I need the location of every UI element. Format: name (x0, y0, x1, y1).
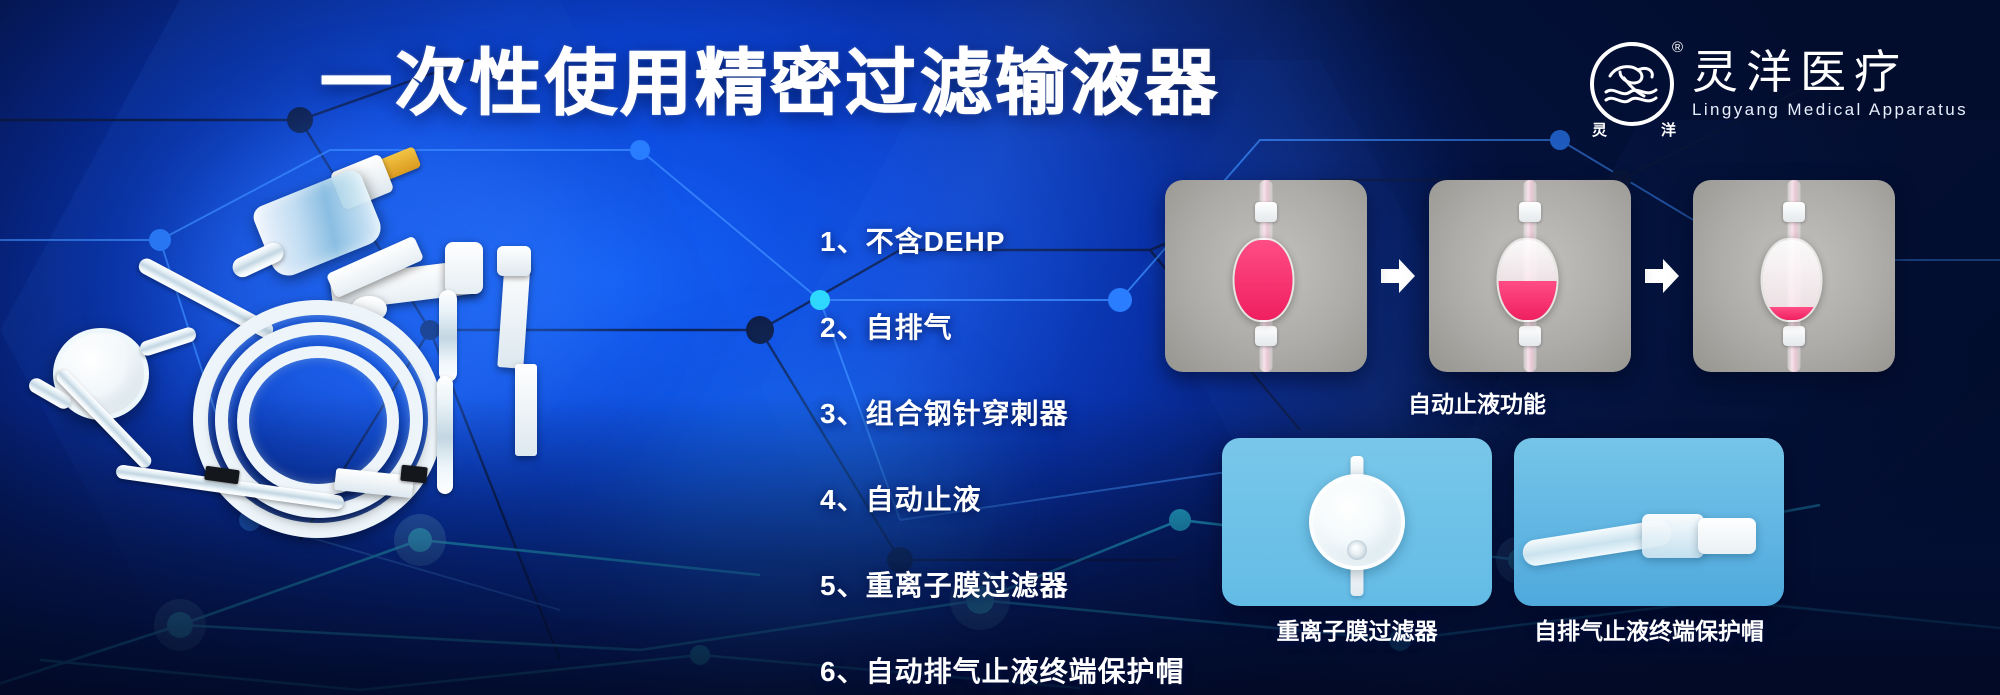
y-site-port (445, 242, 483, 294)
bottom-caption-2: 自排气止液终端保护帽 (1514, 612, 1784, 646)
filter-outlet-tube (138, 325, 198, 357)
terminal-protective-cap (515, 364, 537, 456)
valve-air-space (1763, 240, 1821, 307)
auto-stop-sequence (1165, 180, 1895, 372)
brand-text-block: 灵洋医疗 Lingyang Medical Apparatus (1692, 48, 1968, 120)
iv-connector-top (1519, 202, 1541, 222)
valve-fluid-level (1235, 240, 1293, 320)
bottom-caption-1: 重离子膜过滤器 (1222, 612, 1492, 646)
product-photo (35, 150, 795, 550)
tube-vertical-right (437, 376, 453, 494)
brand-name-en: Lingyang Medical Apparatus (1692, 100, 1968, 120)
iv-connector-top (1783, 202, 1805, 222)
needle-band (400, 465, 428, 484)
heavy-ion-membrane-filter (1309, 474, 1405, 570)
filter-photo-panel (1222, 438, 1492, 606)
sequence-frame-1 (1165, 180, 1367, 372)
brand-block: ® 灵 洋 灵洋医疗 Lingyang Medical Apparatus (1590, 42, 1968, 126)
logo-cn-right: 洋 (1661, 119, 1676, 140)
feature-item-6: 6、自动排气止液终端保护帽 (820, 650, 1185, 690)
feature-item-3: 3、组合钢针穿刺器 (820, 392, 1185, 432)
sequence-frame-2 (1429, 180, 1631, 372)
brand-name-cn: 灵洋医疗 (1692, 48, 1968, 96)
sequence-frame-3 (1693, 180, 1895, 372)
feature-item-5: 5、重离子膜过滤器 (820, 564, 1185, 604)
product-banner: 一次性使用精密过滤输液器 ® 灵 洋 灵洋医疗 Lingyang Med (0, 0, 2000, 695)
auto-stop-valve (1233, 238, 1295, 322)
cap-luer-body (1642, 514, 1704, 558)
arrow-right-icon (1645, 256, 1679, 296)
cap-vent-tip (1698, 518, 1756, 554)
bottom-photo-row (1222, 438, 1784, 606)
logo-cn-chars: 灵 洋 (1592, 119, 1676, 140)
iv-connector-top (1255, 202, 1277, 222)
iv-connector-bottom (1519, 326, 1541, 346)
page-title: 一次性使用精密过滤输液器 (320, 48, 1220, 120)
iv-connector-bottom (1783, 326, 1805, 346)
feature-list: 1、不含DEHP 2、自排气 3、组合钢针穿刺器 4、自动止液 5、重离子膜过滤… (820, 220, 1185, 690)
feature-item-4: 4、自动止液 (820, 478, 1185, 518)
protective-cap-photo-panel (1514, 438, 1784, 606)
chamber-outlet-tube (229, 240, 286, 281)
valve-fluid-level (1763, 307, 1821, 320)
y-site-tube (439, 290, 457, 382)
sequence-caption: 自动止液功能 (1165, 385, 1789, 419)
logo-cn-left: 灵 (1592, 119, 1607, 140)
arrow-right-icon (1381, 256, 1415, 296)
auto-stop-valve (1761, 238, 1823, 322)
needle-protective-cap (497, 246, 531, 276)
feature-item-2: 2、自排气 (820, 306, 1185, 346)
iv-connector-bottom (1255, 326, 1277, 346)
auto-stop-valve (1497, 238, 1559, 322)
feature-item-1: 1、不含DEHP (820, 220, 1185, 260)
registered-mark: ® (1672, 40, 1683, 55)
valve-fluid-level (1499, 281, 1557, 319)
brand-logo-emblem: ® 灵 洋 (1590, 42, 1674, 126)
logo-ring (1590, 42, 1674, 126)
valve-air-space (1499, 240, 1557, 282)
